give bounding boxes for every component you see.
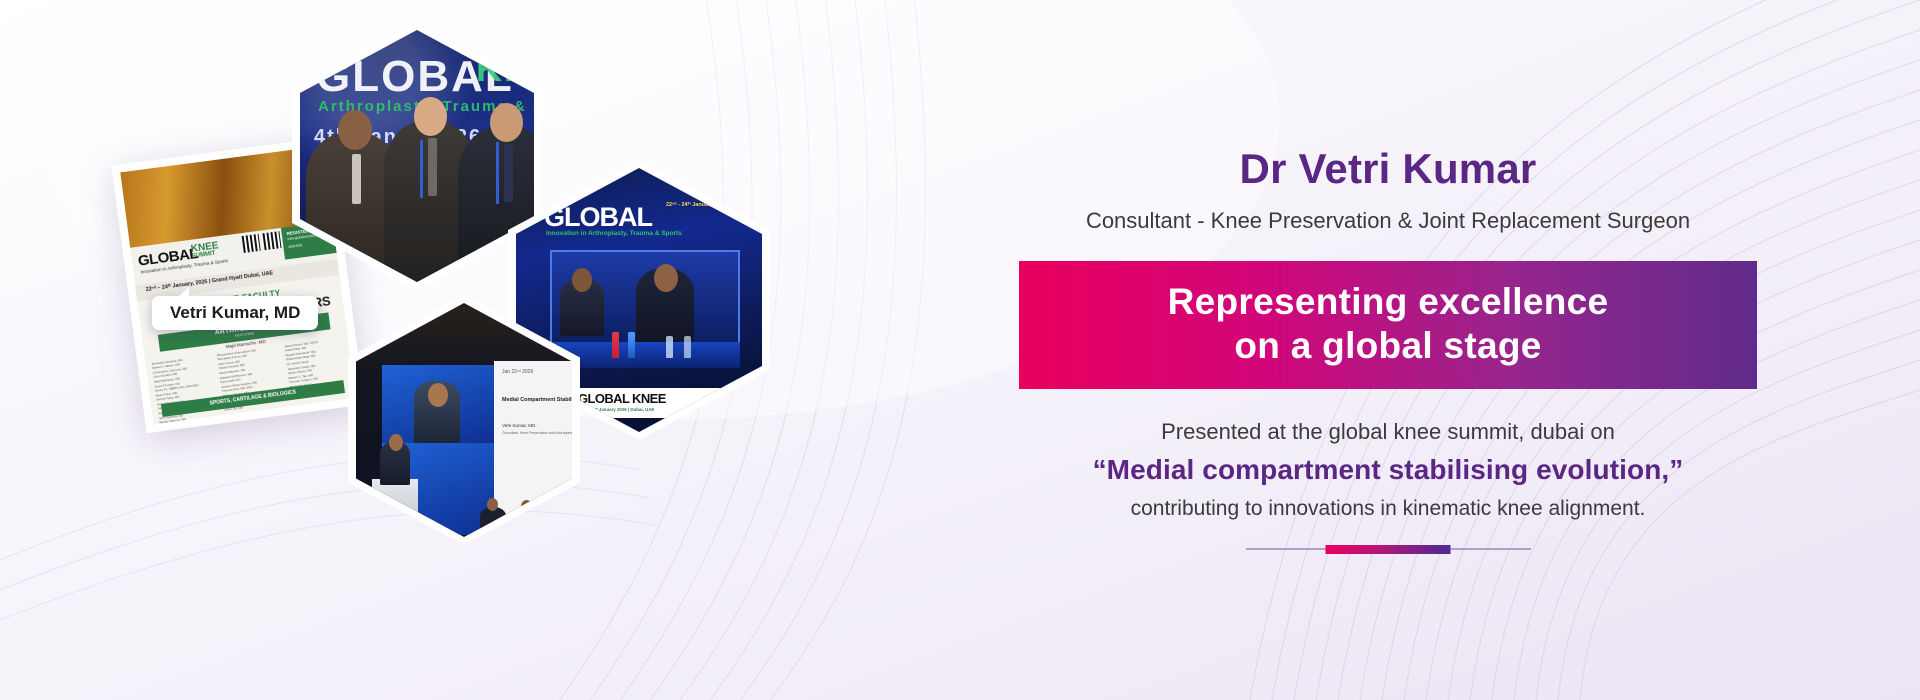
podium-slide-footer: THE KNEE SUMMIT xyxy=(502,524,539,529)
section-divider xyxy=(1246,545,1531,553)
doctor-name: Dr Vetri Kumar xyxy=(1240,147,1537,191)
divider-accent-bar xyxy=(1326,545,1451,554)
highlight-banner: Representing excellence on a global stag… xyxy=(1019,261,1757,389)
banner-line-1: Representing excellence xyxy=(1029,280,1747,324)
podium-slide-title: Medial Compartment Stability ... xyxy=(502,397,572,404)
doctor-role: Consultant - Knee Preservation & Joint R… xyxy=(1086,208,1690,234)
photo-collage: GLOBAL KNEE SUMMIT Innovation in Arthrop… xyxy=(0,0,840,700)
presented-text: Presented at the global knee summit, dub… xyxy=(1161,419,1615,445)
stage-backdrop-knee: KNEE xyxy=(476,48,534,90)
panel-lower-dates: 22ⁿᵈ - 24ᵗʰ January 2026 | Dubai, UAE xyxy=(578,407,654,412)
panel-screen-tagline: Innovation in Arthroplasty, Trauma & Spo… xyxy=(546,230,682,237)
qr-code-icon xyxy=(242,234,261,253)
talk-title: “Medial compartment stabilising evolutio… xyxy=(1093,454,1684,486)
podium-slide-date: Jan 22ⁿᵈ 2026 xyxy=(502,369,533,375)
podium-slide-affiliation: Consultant, Knee Preservation and Arthro… xyxy=(502,431,572,436)
panel-lower-logo: GLOBAL KNEE xyxy=(578,391,666,406)
poster-faculty-column-1: Alexander Aichmar, MD Daniel C. Allison,… xyxy=(151,354,215,425)
podium-slide-presenter: Vetri Kumar, MD xyxy=(502,423,535,428)
panel-screen-dates: 22ⁿᵈ - 24ᵗʰ January 2026 | Dubai, UAE xyxy=(666,202,762,208)
qr-code-icon xyxy=(262,231,281,250)
banner-line-2: on a global stage xyxy=(1029,324,1747,368)
poster-hashtag: #GKS26 xyxy=(288,244,302,250)
vetri-kumar-callout: Vetri Kumar, MD xyxy=(152,296,318,330)
panel-screen-logo: GLOBAL xyxy=(544,202,652,233)
info-panel: Dr Vetri Kumar Consultant - Knee Preserv… xyxy=(856,0,1920,700)
contributing-text: contributing to innovations in kinematic… xyxy=(1131,497,1646,521)
